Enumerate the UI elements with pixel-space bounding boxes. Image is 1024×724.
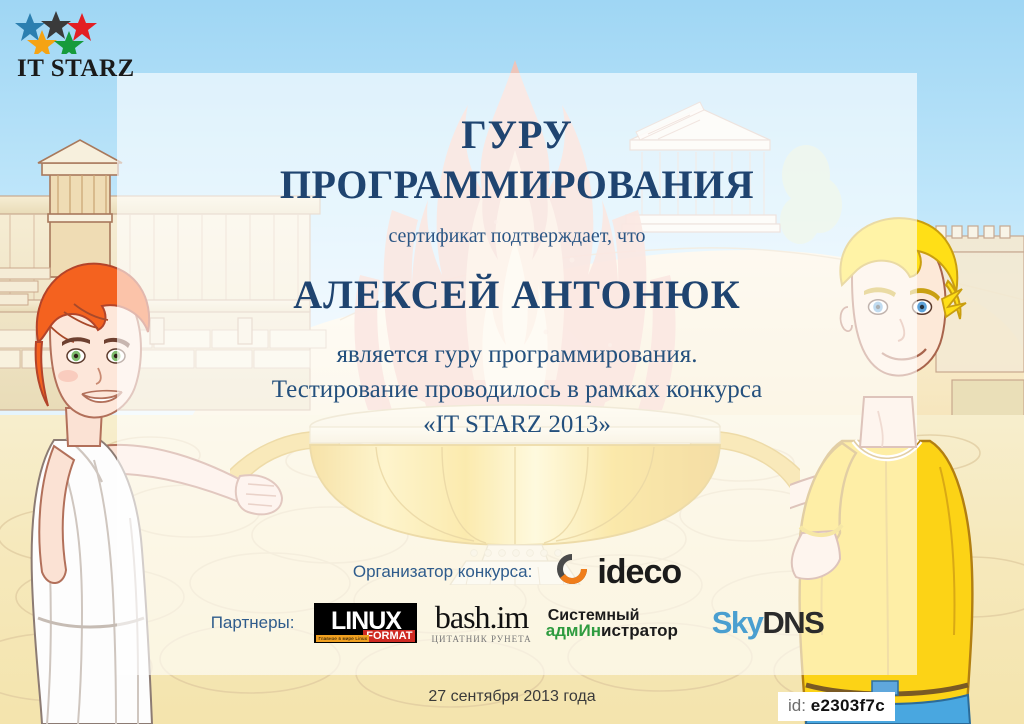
sysadmin-name-line2: адмИнистратор bbox=[546, 623, 698, 638]
ideco-wordmark: ideco bbox=[597, 555, 681, 589]
linux-format-tagline: Главное в мире Linux bbox=[316, 635, 369, 642]
sysadmin-name-rest: истратор bbox=[601, 621, 678, 640]
sysadmin-logo: Системный адмИнистратор bbox=[546, 608, 698, 638]
id-badge-value: e2303f7c bbox=[811, 696, 885, 715]
certificate-canvas: IT STARZ ГУРУ ПРОГРАММИРОВАНИЯ сертифика… bbox=[0, 0, 1024, 724]
partners-row: Партнеры: LINUX FORMAT Главное в мире Li… bbox=[117, 601, 917, 644]
id-badge: id: e2303f7c bbox=[778, 692, 895, 721]
logo-wordmark: IT STARZ bbox=[17, 55, 114, 83]
brand-logo: IT STARZ bbox=[14, 10, 114, 92]
certificate-body-line3: «IT STARZ 2013» bbox=[117, 411, 917, 439]
bash-im-name: bash.im bbox=[435, 601, 528, 633]
sysadmin-name-accent: адмИн bbox=[546, 621, 601, 640]
ideco-logo: ideco bbox=[554, 551, 681, 592]
certificate-body-line1: является гуру программирования. bbox=[117, 341, 917, 369]
bash-im-sub: ЦИТАТНИК РУНЕТА bbox=[431, 634, 531, 644]
ideco-mark-icon bbox=[554, 551, 590, 592]
linux-format-logo: LINUX FORMAT Главное в мире Linux bbox=[314, 603, 417, 643]
organizer-row: Организатор конкурса: ideco bbox=[117, 551, 917, 592]
skydns-logo: SkyDNS bbox=[712, 607, 824, 638]
partners-label: Партнеры: bbox=[211, 613, 295, 633]
certificate-subtitle: сертификат подтверждает, что bbox=[117, 225, 917, 248]
id-badge-key: id: bbox=[788, 696, 806, 715]
logo-stars bbox=[14, 10, 114, 52]
certificate-title-line2: ПРОГРАММИРОВАНИЯ bbox=[117, 161, 917, 208]
certificate-title-line1: ГУРУ bbox=[117, 111, 917, 158]
bash-im-logo: bash.im ЦИТАТНИК РУНЕТА bbox=[431, 601, 531, 644]
organizer-label: Организатор конкурса: bbox=[353, 562, 533, 582]
certificate-body-line2: Тестирование проводилось в рамках конкур… bbox=[117, 376, 917, 404]
skydns-name-sky: Sky bbox=[712, 605, 763, 640]
recipient-name: АЛЕКСЕЙ АНТОНЮК bbox=[117, 271, 917, 318]
linux-format-sub: FORMAT bbox=[363, 630, 415, 642]
skydns-name-dns: DNS bbox=[762, 605, 823, 640]
certificate-text-block: ГУРУ ПРОГРАММИРОВАНИЯ сертификат подтвер… bbox=[117, 73, 917, 675]
